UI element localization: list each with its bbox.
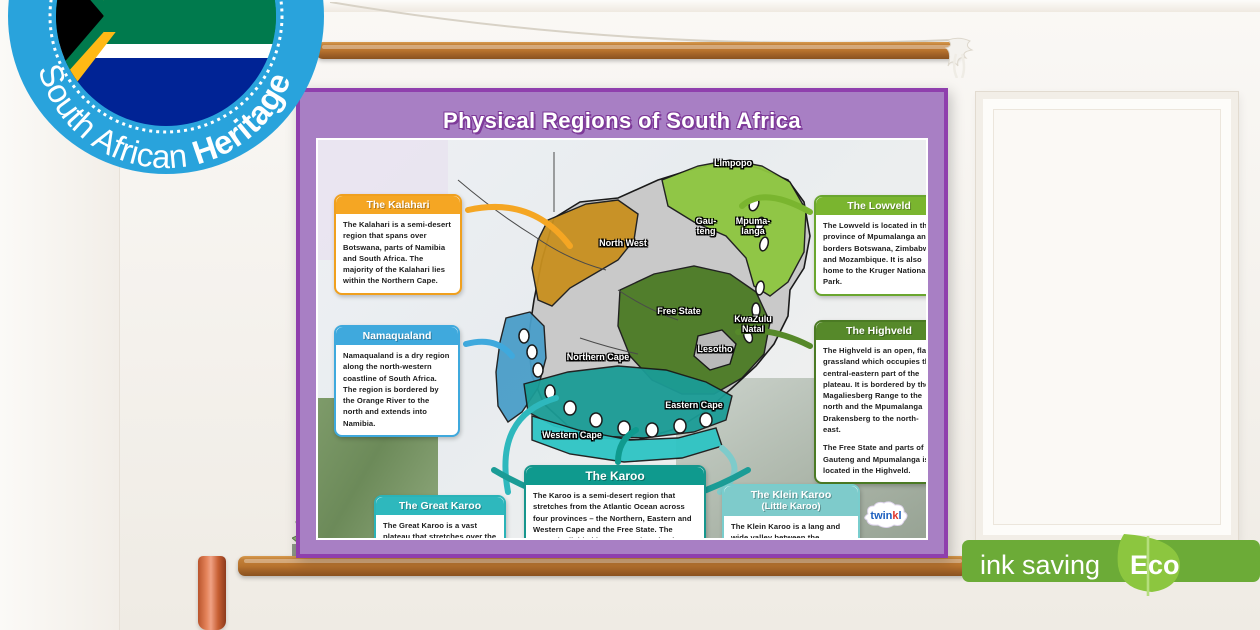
callout-paragraph: The Highveld is an open, flat grassland … (823, 345, 928, 435)
callout-title: The Great Karoo (376, 497, 504, 515)
callout-namaqualand[interactable]: Namaqualand Namaqualand is a dry region … (334, 325, 460, 437)
poster: Physical Regions of South Africa (296, 88, 948, 558)
callout-kalahari[interactable]: The Kalahari The Kalahari is a semi-dese… (334, 194, 462, 295)
twinkl-logo[interactable]: twinkl (858, 500, 914, 530)
rod-highlight (322, 45, 955, 49)
string-knot (942, 36, 976, 78)
callout-highveld[interactable]: The Highveld The Highveld is an open, fl… (814, 320, 928, 484)
callout-body: The Kalahari is a semi-desert region tha… (336, 214, 460, 293)
callout-body: The Karoo is a semi-desert region that s… (526, 485, 704, 540)
callout-title: The Highveld (816, 322, 928, 340)
callout-karoo[interactable]: The Karoo The Karoo is a semi-desert reg… (524, 465, 706, 540)
callout-paragraph: The Lowveld is located in the province o… (823, 220, 928, 288)
callout-great-karoo[interactable]: The Great Karoo The Great Karoo is a vas… (374, 495, 506, 540)
callout-paragraph: The Kalahari is a semi-desert region tha… (343, 219, 453, 287)
callout-klein-karoo[interactable]: The Klein Karoo (Little Karoo) The Klein… (722, 484, 860, 540)
callout-lowveld[interactable]: The Lowveld The Lowveld is located in th… (814, 195, 928, 296)
callout-paragraph: The Great Karoo is a vast plateau that s… (383, 520, 497, 540)
map-label-mpumalanga: Mpuma-langa (722, 216, 784, 236)
map-canvas: Limpopo Gau-teng Mpuma-langa North West … (316, 138, 928, 540)
callout-paragraph: Namaqualand is a dry region along the no… (343, 350, 451, 429)
wall-picture-frame-inner (993, 109, 1221, 525)
map-label-western-cape: Western Cape (516, 430, 628, 440)
callout-paragraph: The Klein Karoo is a lang and wide valle… (731, 521, 851, 540)
map-label-lesotho: Lesotho (682, 344, 748, 354)
callout-title: The Karoo (526, 467, 704, 485)
map-label-eastern-cape: Eastern Cape (640, 400, 748, 410)
callout-title-main: The Klein Karoo (751, 489, 832, 501)
poster-rod-top (316, 42, 961, 59)
poster-inner: Physical Regions of South Africa (306, 98, 938, 548)
callout-title: The Kalahari (336, 196, 460, 214)
rod-highlight (244, 559, 962, 563)
callout-title: The Klein Karoo (Little Karoo) (724, 486, 858, 516)
page-title: Physical Regions of South Africa (306, 104, 938, 138)
callout-title: The Lowveld (816, 197, 928, 215)
callout-body: The Klein Karoo is a lang and wide valle… (724, 516, 858, 540)
callout-title: Namaqualand (336, 327, 458, 345)
callout-paragraph: The Karoo is a semi-desert region that s… (533, 490, 697, 540)
south-african-heritage-badge: South African Heritage (8, 0, 324, 220)
hanging-string (330, 2, 950, 46)
map-label-kwazulu-natal: KwaZuluNatal (722, 314, 784, 334)
callout-body: The Great Karoo is a vast plateau that s… (376, 515, 504, 540)
eco-leaf-label: Eco (1130, 550, 1180, 580)
callout-body: Namaqualand is a dry region along the no… (336, 345, 458, 435)
map-label-limpopo: Limpopo (698, 158, 768, 168)
vase (198, 556, 226, 630)
callout-title-sub: (Little Karoo) (728, 501, 854, 513)
map-label-north-west: North West (580, 238, 666, 248)
map-label-northern-cape: Northern Cape (542, 352, 654, 362)
callout-paragraph: The Free State and parts of Gauteng and … (823, 442, 928, 476)
map-label-free-state: Free State (638, 306, 720, 316)
poster-rod-bottom (238, 556, 968, 576)
twinkl-wordmark: twinkl (870, 510, 901, 522)
callout-body: The Lowveld is located in the province o… (816, 215, 928, 294)
ink-saving-eco-banner: ink saving Eco (962, 534, 1260, 596)
callout-body: The Highveld is an open, flat grassland … (816, 340, 928, 482)
eco-label: ink saving (980, 550, 1100, 580)
wall-picture-frame (976, 92, 1238, 542)
